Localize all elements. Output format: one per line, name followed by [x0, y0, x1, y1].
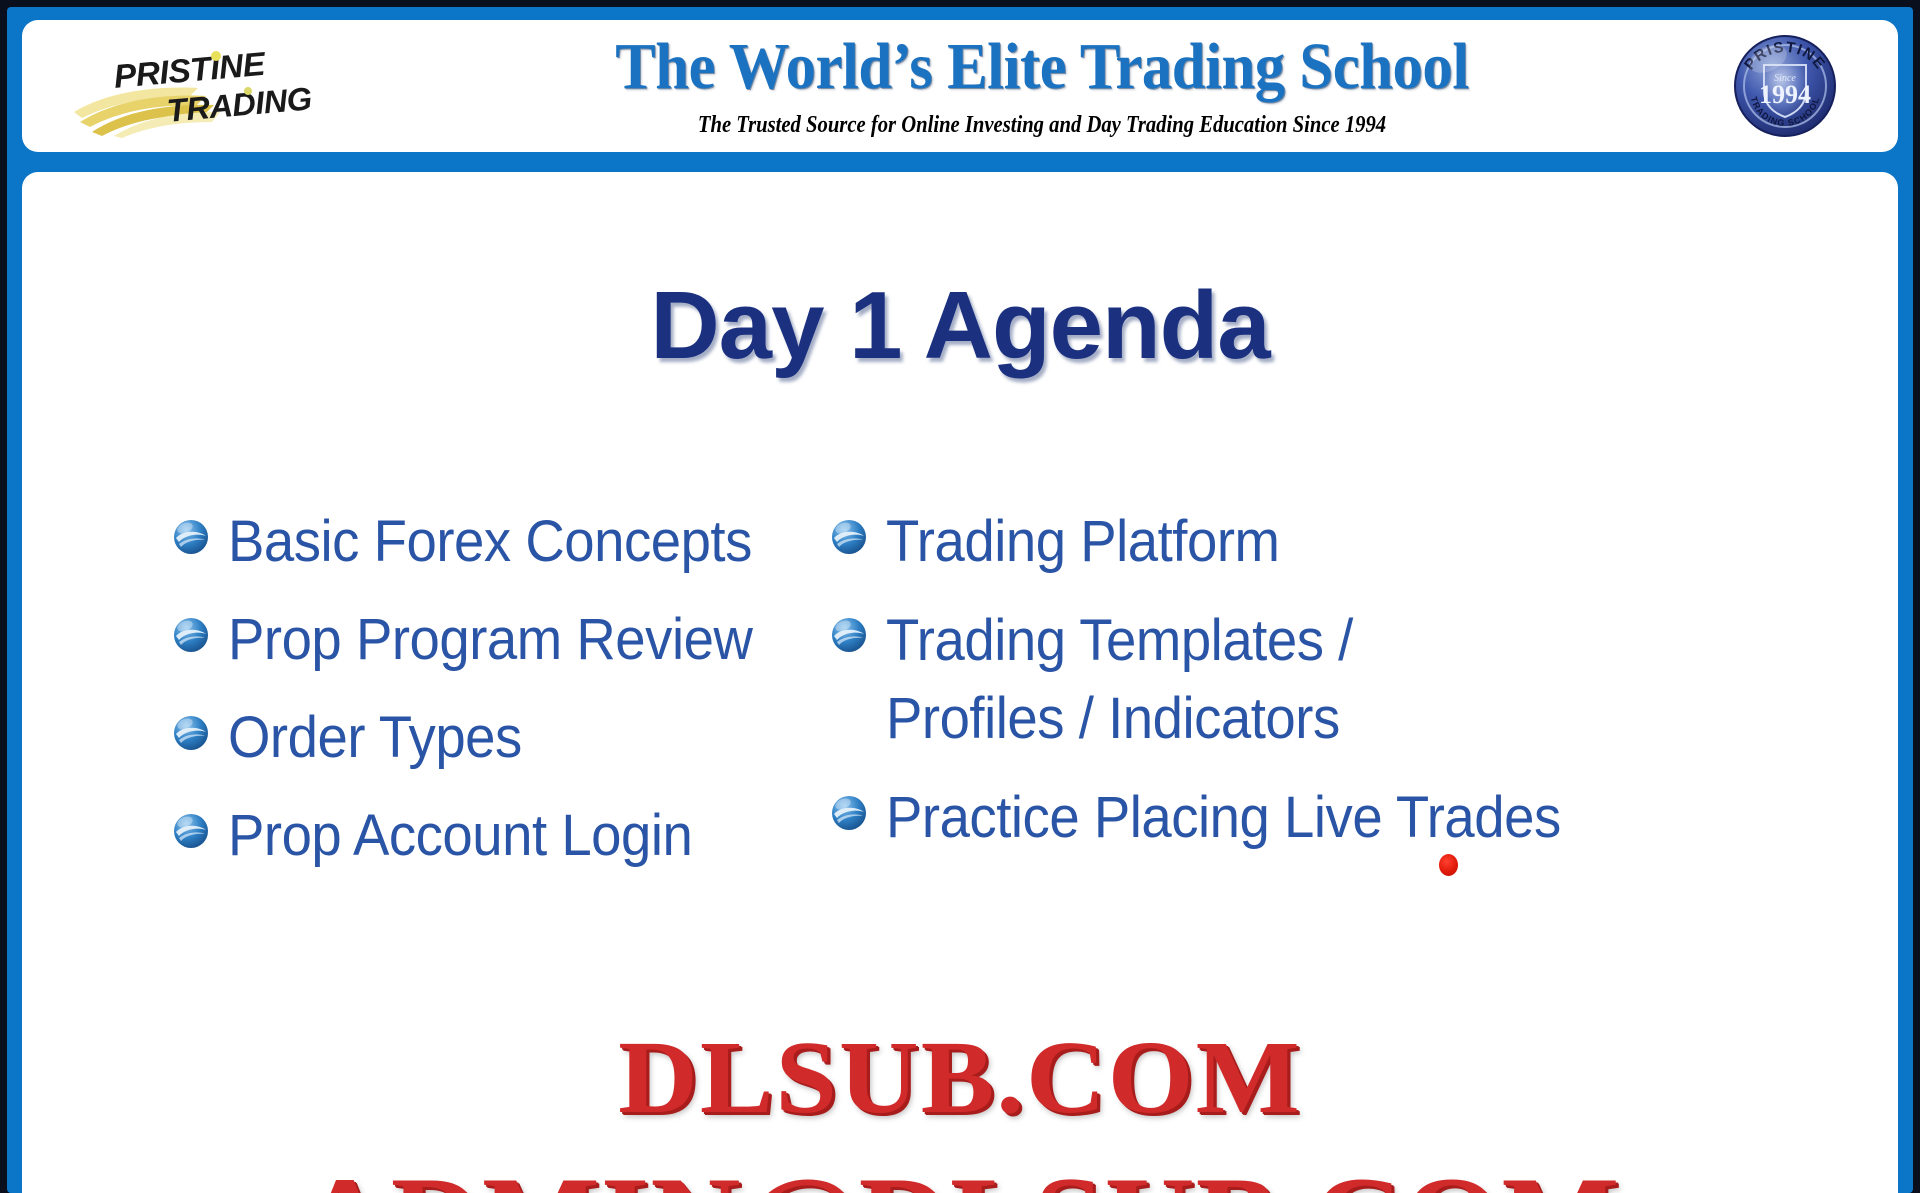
watermark-email: ADMIN@DLSUB.COM	[22, 1152, 1898, 1193]
agenda-item-label: Trading Platform	[886, 504, 1279, 580]
agenda-column-left: Basic Forex Concepts Prop Program Review	[22, 504, 812, 896]
watermark-site: DLSUB.COM	[22, 1020, 1898, 1136]
blue-globe-bullet-icon	[172, 714, 210, 752]
svg-text:1994: 1994	[1759, 80, 1811, 109]
agenda-item[interactable]: Trading Platform	[830, 504, 1832, 580]
agenda-item-label: Order Types	[228, 700, 522, 776]
agenda-item[interactable]: Order Types	[172, 700, 812, 776]
slide-body: Day 1 Agenda	[22, 172, 1898, 1193]
header-banner: PRISTINE TRADING The World’s Elite Tradi…	[22, 20, 1898, 152]
red-laser-dot-icon	[1439, 854, 1458, 876]
blue-globe-bullet-icon	[830, 518, 868, 556]
pristine-since-1994-seal-icon: Since 1994 PRISTINE TRADING SCHOOL	[1728, 29, 1842, 143]
blue-globe-bullet-icon	[172, 616, 210, 654]
header-title: The World’s Elite Trading School	[416, 28, 1667, 106]
agenda-item-label-line2: Profiles / Indicators	[886, 686, 1340, 751]
agenda-item[interactable]: Prop Program Review	[172, 602, 812, 678]
agenda-item[interactable]: Prop Account Login	[172, 798, 812, 874]
agenda-item-label: Basic Forex Concepts	[228, 504, 752, 580]
pristine-wing-logo-icon: PRISTINE TRADING	[70, 42, 360, 142]
page-title: Day 1 Agenda	[22, 274, 1898, 378]
agenda-item-label-multiline: Trading Templates / Profiles / Indicator…	[886, 602, 1353, 758]
agenda-item[interactable]: Trading Templates / Profiles / Indicator…	[830, 602, 1832, 758]
agenda-item-label: Prop Program Review	[228, 602, 752, 678]
agenda-item-label: Practice Placing Live Trades	[886, 780, 1561, 856]
agenda-item-label: Prop Account Login	[228, 798, 692, 874]
header-tagline: The Trusted Source for Online Investing …	[457, 110, 1627, 140]
blue-globe-bullet-icon	[830, 794, 868, 832]
blue-globe-bullet-icon	[172, 812, 210, 850]
blue-globe-bullet-icon	[830, 616, 868, 654]
blue-globe-bullet-icon	[172, 518, 210, 556]
agenda-item-label-line1: Trading Templates /	[886, 608, 1353, 673]
agenda-columns: Basic Forex Concepts Prop Program Review	[22, 504, 1898, 896]
agenda-item[interactable]: Practice Placing Live Trades	[830, 780, 1832, 856]
header-title-block: The World’s Elite Trading School The Tru…	[362, 28, 1722, 140]
agenda-item[interactable]: Basic Forex Concepts	[172, 504, 812, 580]
slide-root: PRISTINE TRADING The World’s Elite Tradi…	[0, 0, 1920, 1193]
agenda-column-right: Trading Platform Trading Templates / P	[812, 504, 1832, 878]
